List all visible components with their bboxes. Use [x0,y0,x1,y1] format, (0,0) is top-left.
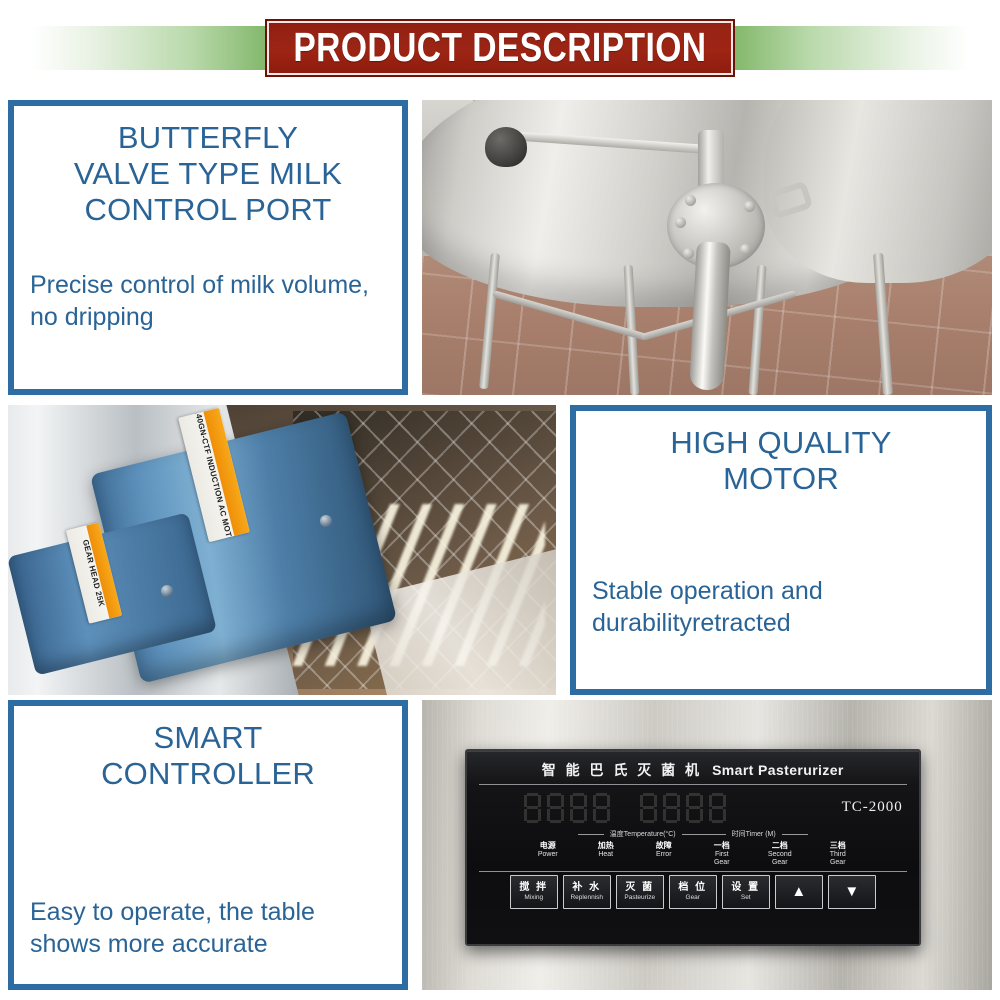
seven-segment-digit [709,793,726,823]
feature-title-butterfly-valve: BUTTERFLYVALVE TYPE MILKCONTROL PORT [30,120,386,228]
feature-row-1: BUTTERFLYVALVE TYPE MILKCONTROL PORT Pre… [0,100,1000,395]
mixing-button[interactable]: 搅 拌 Mixing [510,875,558,909]
set-button[interactable]: 设 置 Set [722,875,770,909]
controller-button-row: 搅 拌 Mixing 补 水 Replennish 灭 菌 Pasteurize [477,875,909,909]
replenish-button-label-en: Replennish [570,894,603,902]
valve-handle-knob [485,127,527,167]
feature-title-smart-controller: SMARTCONTROLLER [30,720,386,792]
replenish-button[interactable]: 补 水 Replennish [563,875,611,909]
indicator-label-en: FirstGear [693,851,751,867]
indicator-power: 电源 Power [519,842,577,866]
gear-button-label-en: Gear [686,894,700,902]
scale-rule [578,834,604,835]
seven-segment-digit [663,793,680,823]
increase-button[interactable]: ▲ [775,875,823,909]
controller-indicator-row: 电源 Power 加热 Heat 故障 Error [477,842,909,866]
page-title: PRODUCT DESCRIPTION [293,27,706,68]
indicator-label-en: SecondGear [751,851,809,867]
flange-bolt [685,195,696,206]
scale-rule [782,834,808,835]
pasteurize-button-label-en: Pasteurize [624,894,655,902]
indicator-label-en: ThirdGear [809,851,867,867]
display-gap [617,793,633,823]
header-green-wing-right [735,26,1000,70]
seven-segment-digit [640,793,657,823]
pasteurize-button-label-cn: 灭 菌 [625,882,654,893]
arrow-up-icon: ▲ [791,884,806,899]
seven-segment-digit [570,793,587,823]
feature-body-smart-controller: Easy to operate, the table shows more ac… [30,897,386,960]
product-description-banner: PRODUCT DESCRIPTION [265,19,735,77]
feature-row-2: 5IK40GN-CTF INDUCTION AC MOTOR GEAR HEAD… [0,405,1000,695]
controller-model-number: TC-2000 [842,799,903,816]
indicator-label-en: Error [635,851,693,859]
flange-bolt [740,244,751,255]
seven-segment-digit [686,793,703,823]
controller-title: 智 能 巴 氏 灭 菌 机Smart Pasterurizer [477,760,909,780]
flange-bolt [744,201,755,212]
gear-button-label-cn: 档 位 [678,882,707,893]
mixing-button-label-cn: 搅 拌 [519,882,548,893]
controller-divider-bottom [479,871,907,872]
pasteurize-button[interactable]: 灭 菌 Pasteurize [616,875,664,909]
gear-button[interactable]: 档 位 Gear [669,875,717,909]
set-button-label-cn: 设 置 [731,882,760,893]
indicator-error: 故障 Error [635,842,693,866]
seven-segment-digit [524,793,541,823]
feature-body-butterfly-valve: Precise control of milk volume, no dripp… [30,270,386,333]
decrease-button[interactable]: ▼ [828,875,876,909]
controller-title-cn: 智 能 巴 氏 灭 菌 机 [542,762,702,778]
indicator-heat: 加热 Heat [577,842,635,866]
scale-rule [682,834,726,835]
flange-bolt [675,217,686,228]
page-header: PRODUCT DESCRIPTION [0,0,1000,95]
feature-grid: BUTTERFLYVALVE TYPE MILKCONTROL PORT Pre… [0,95,1000,1000]
indicator-label-cn: 一档 [693,842,751,851]
controller-title-en: Smart Pasterurizer [712,762,844,778]
feature-panel-smart-controller: SMARTCONTROLLER Easy to operate, the tab… [8,700,408,990]
arrow-down-icon: ▼ [844,884,859,899]
indicator-label-cn: 二档 [751,842,809,851]
indicator-label-cn: 加热 [577,842,635,851]
indicator-label-en: Power [519,851,577,859]
indicator-first-gear: 一档 FirstGear [693,842,751,866]
indicator-label-en: Heat [577,851,635,859]
seven-segment-digit [593,793,610,823]
indicator-second-gear: 二档 SecondGear [751,842,809,866]
controller-panel: 智 能 巴 氏 灭 菌 机Smart Pasterurizer [465,749,921,946]
photo-gear-motor: 5IK40GN-CTF INDUCTION AC MOTOR GEAR HEAD… [8,405,556,695]
indicator-label-cn: 三档 [809,842,867,851]
timer-digit-group [640,793,726,823]
temperature-digit-group [524,793,610,823]
feature-panel-high-quality-motor: HIGH QUALITYMOTOR Stable operation and d… [570,405,992,695]
set-button-label-en: Set [741,894,751,902]
indicator-label-cn: 故障 [635,842,693,851]
feature-title-high-quality-motor: HIGH QUALITYMOTOR [592,425,970,497]
indicator-label-cn: 电源 [519,842,577,851]
header-green-wing-left [0,26,265,70]
seven-segment-display [524,793,726,823]
indicator-third-gear: 三档 ThirdGear [809,842,867,866]
feature-body-high-quality-motor: Stable operation and durabilityretracted [592,576,970,639]
mixing-button-label-en: Mixing [524,894,543,902]
feature-row-3: SMARTCONTROLLER Easy to operate, the tab… [0,700,1000,990]
seven-segment-digit [547,793,564,823]
photo-smart-controller: 智 能 巴 氏 灭 菌 机Smart Pasterurizer [422,700,992,990]
flange-bolt [683,248,694,259]
replenish-button-label-cn: 补 水 [572,882,601,893]
controller-display: TC-2000 [477,785,909,831]
photo-butterfly-valve-milk-port [422,100,992,395]
feature-panel-butterfly-valve: BUTTERFLYVALVE TYPE MILKCONTROL PORT Pre… [8,100,408,395]
